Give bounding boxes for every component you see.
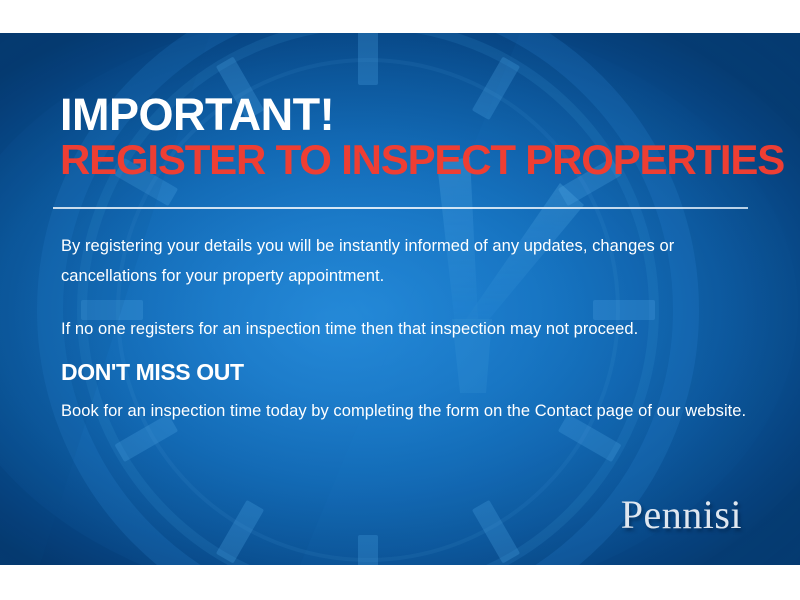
- poster-canvas: IMPORTANT! REGISTER TO INSPECT PROPERTIE…: [0, 0, 800, 600]
- body-paragraph-3: Book for an inspection time today by com…: [61, 396, 751, 426]
- headline-register: REGISTER TO INSPECT PROPERTIES: [60, 139, 784, 181]
- brand-logo: Pennisi: [621, 495, 742, 535]
- body-paragraph-1: By registering your details you will be …: [61, 231, 751, 291]
- body-paragraph-2: If no one registers for an inspection ti…: [61, 314, 751, 344]
- poster-content: IMPORTANT! REGISTER TO INSPECT PROPERTIE…: [0, 33, 800, 565]
- body-subheading: DON'T MISS OUT: [61, 361, 244, 384]
- headline-divider: [53, 207, 748, 209]
- headline-important: IMPORTANT!: [60, 92, 334, 137]
- poster-artboard: IMPORTANT! REGISTER TO INSPECT PROPERTIE…: [0, 33, 800, 565]
